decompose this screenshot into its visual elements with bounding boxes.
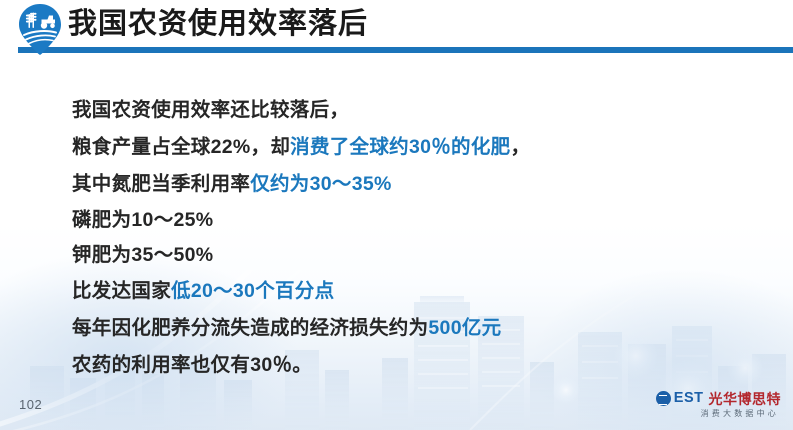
line-highlight: 500亿元 [428,317,501,339]
text-line: 每年因化肥养分流失造成的经济损失约为500亿元 [72,310,712,347]
text-line: 比发达国家低20～30个百分点 [72,273,712,310]
line-plain-1: 钾肥为35～50% [72,244,213,266]
body-text-block: 我国农资使用效率还比较落后， 粮食产量占全球22%，却消费了全球约30％的化肥，… [72,92,712,384]
line-plain-2: ， [510,136,530,158]
text-line: 我国农资使用效率还比较落后， [72,92,712,129]
page-title: 我国农资使用效率落后 [68,6,368,42]
brand-name-cn: 光华博思特 [709,392,782,406]
brand-name-en: EST [674,391,704,406]
best-circle-logo-icon [656,391,671,406]
text-line: 钾肥为35～50% [72,238,712,273]
line-highlight: 消费了全球约30％的化肥 [290,136,510,158]
line-plain-1: 粮食产量占全球22%，却 [72,136,290,158]
line-plain-1: 比发达国家 [72,280,171,302]
text-line: 农药的利用率也仅有30％。 [72,347,712,384]
brand-subtitle: 消费大数据中心 [656,410,779,418]
line-plain-1: 农药的利用率也仅有30％。 [72,354,312,376]
slide: 我国农资使用效率落后 我国农资使用效率还比较落后， 粮食产量占全球22%，却消费… [0,0,793,430]
line-highlight: 仅约为30～35% [250,173,391,195]
line-plain-1: 每年因化肥养分流失造成的经济损失约为 [72,317,428,339]
line-plain-1: 其中氮肥当季利用率 [72,173,250,195]
slide-header: 我国农资使用效率落后 [0,0,793,54]
brand-logo: EST 光华博思特 消费大数据中心 [656,391,781,418]
line-plain-1: 我国农资使用效率还比较落后， [72,99,349,121]
line-highlight: 低20～30个百分点 [171,280,334,302]
text-line: 其中氮肥当季利用率仅约为30～35% [72,166,712,203]
text-line: 粮食产量占全球22%，却消费了全球约30％的化肥， [72,129,712,166]
line-plain-1: 磷肥为10～25% [72,209,213,231]
agriculture-map-pin-icon [17,3,63,55]
text-line: 磷肥为10～25% [72,203,712,238]
brand-logo-row: EST 光华博思特 [656,391,781,406]
page-number: 102 [19,397,42,412]
